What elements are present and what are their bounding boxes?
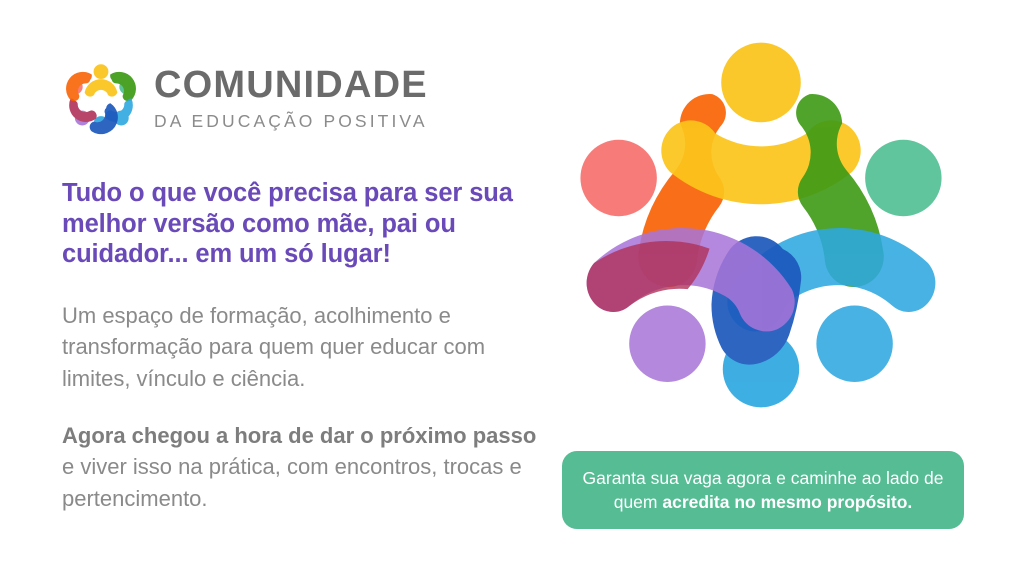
- cta-text: Garanta sua vaga agora e caminhe ao lado…: [578, 466, 948, 514]
- body-paragraph-two-bold: Agora chegou a hora de dar o próximo pas…: [62, 423, 536, 448]
- left-content-column: COMUNIDADE DA EDUCAÇÃO POSITIVA Tudo o q…: [62, 0, 552, 576]
- promo-slide: COMUNIDADE DA EDUCAÇÃO POSITIVA Tudo o q…: [0, 0, 1024, 576]
- brand-wordmark: COMUNIDADE DA EDUCAÇÃO POSITIVA: [154, 64, 428, 131]
- brand-name: COMUNIDADE: [154, 66, 428, 104]
- brand-tagline: DA EDUCAÇÃO POSITIVA: [154, 113, 428, 131]
- people-circle-logo-icon: [62, 58, 140, 136]
- page-title: Tudo o que você precisa para ser sua mel…: [62, 178, 540, 270]
- body-paragraph-two-rest: e viver isso na prática, com encontros, …: [62, 454, 522, 510]
- figure-lower-left-accent: [587, 241, 710, 312]
- body-paragraph-one: Um espaço de formação, acolhimento e tra…: [62, 300, 542, 394]
- brand-logo-lockup: COMUNIDADE DA EDUCAÇÃO POSITIVA: [62, 58, 428, 136]
- right-content-column: Garanta sua vaga agora e caminhe ao lado…: [552, 0, 1024, 576]
- body-paragraph-two: Agora chegou a hora de dar o próximo pas…: [62, 420, 552, 514]
- six-people-circle-illustration: [566, 22, 956, 412]
- cta-text-bold: acredita no mesmo propósito.: [662, 492, 912, 512]
- cta-banner[interactable]: Garanta sua vaga agora e caminhe ao lado…: [562, 451, 964, 529]
